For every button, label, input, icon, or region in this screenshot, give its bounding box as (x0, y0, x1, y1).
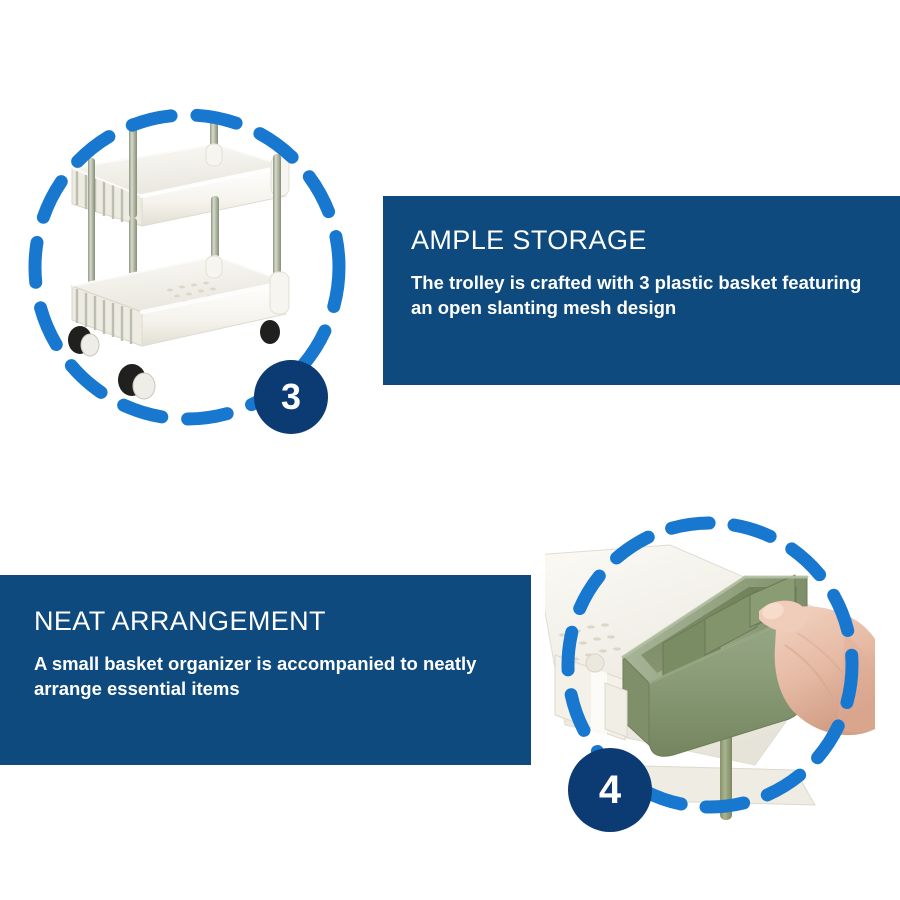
step-number-badge-4: 4 (568, 748, 652, 832)
feature-panel-neat-arrangement: NEAT ARRANGEMENT A small basket organize… (0, 575, 531, 765)
step-number-badge-3: 3 (254, 360, 328, 434)
infographic-page: 3 AMPLE STORAGE The trolley is crafted w… (0, 0, 900, 900)
feature-description: A small basket organizer is accompanied … (34, 651, 497, 702)
feature-description: The trolley is crafted with 3 plastic ba… (411, 270, 872, 321)
feature-title: AMPLE STORAGE (411, 226, 872, 256)
feature-panel-ample-storage: AMPLE STORAGE The trolley is crafted wit… (383, 196, 900, 385)
badge-number-label: 3 (281, 379, 301, 415)
feature-title: NEAT ARRANGEMENT (34, 607, 497, 637)
badge-number-label: 4 (599, 770, 621, 810)
